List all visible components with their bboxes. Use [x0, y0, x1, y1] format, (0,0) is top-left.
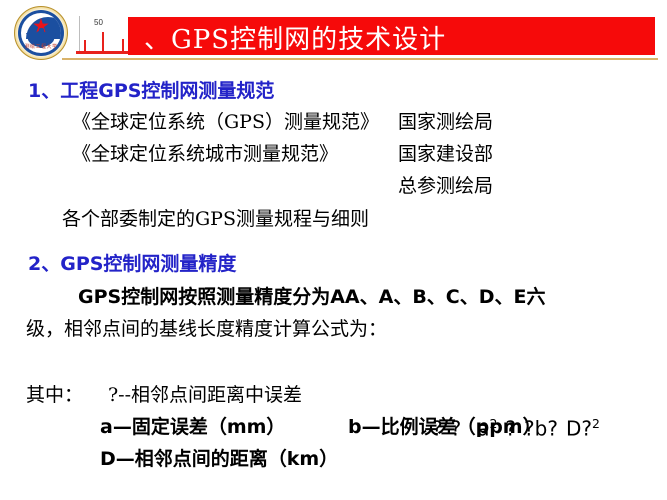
section2-paragraph-line1: GPS控制网按照测量精度分为AA、A、B、C、D、E六 — [78, 282, 546, 309]
formula-exp-tail: 2 — [592, 416, 600, 431]
university-seal-icon: 测绘工程大学 — [14, 6, 68, 60]
section2-heading: 2、GPS控制网测量精度 — [28, 249, 236, 276]
title-banner: 、GPS控制网的技术设计 — [128, 17, 655, 55]
page-title: 、GPS控制网的技术设计 — [144, 19, 446, 56]
mini-chart-tick — [122, 39, 124, 52]
formula-term-d: D — [566, 417, 581, 441]
mini-chart-artifact: 50 — [76, 16, 132, 58]
mini-chart-y-axis — [79, 16, 80, 54]
legend-item-b: b—比例误差（ppm） — [348, 412, 542, 439]
legend-item-a: a—固定误差（mm） — [100, 412, 285, 439]
section2-paragraph-line2: 级，相邻点间的基线长度精度计算公式为： — [26, 314, 387, 341]
standard-name-2: 《全球定位系统城市测量规范》 — [72, 139, 338, 166]
mini-chart-label: 50 — [94, 18, 103, 27]
standard-issuer-2: 国家建设部 — [398, 139, 493, 166]
slide-header: 测绘工程大学 50 、GPS控制网的技术设计 — [0, 0, 667, 68]
section1-heading: 1、工程GPS控制网测量规范 — [28, 76, 274, 103]
mini-chart-tick — [84, 40, 86, 52]
legend-item-d: D—相邻点间的距离（km） — [100, 444, 338, 471]
standard-name-1: 《全球定位系统（GPS）测量规范》 — [72, 107, 379, 134]
mini-chart-tick — [102, 32, 104, 52]
slide-canvas: 测绘工程大学 50 、GPS控制网的技术设计 1、工程GPS控制网测量规范 《全… — [0, 0, 667, 500]
slide-body: 1、工程GPS控制网测量规范 《全球定位系统（GPS）测量规范》 国家测绘局 《… — [0, 68, 667, 500]
header-divider — [62, 58, 658, 60]
legend-prefix: 其中： — [26, 380, 83, 407]
standard-issuer-3: 总参测绘局 — [398, 171, 493, 198]
formula-multiply: ? — [547, 417, 558, 441]
legend-item-sigma: ?--相邻点间距离中误差 — [108, 380, 302, 407]
section1-note: 各个部委制定的GPS测量规程与细则 — [62, 204, 369, 231]
seal-inner-text: 测绘工程大学 — [22, 43, 60, 50]
standard-issuer-1: 国家测绘局 — [398, 107, 493, 134]
formula-close-paren: ? — [581, 417, 592, 441]
